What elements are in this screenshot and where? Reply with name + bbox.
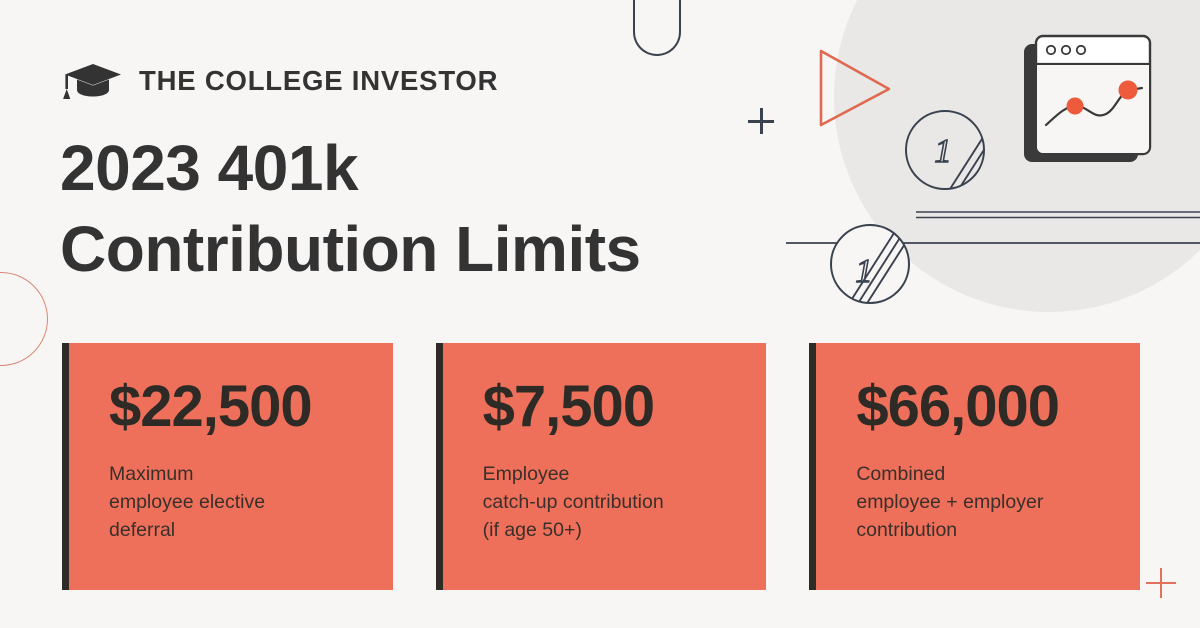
graduation-cap-icon xyxy=(62,62,122,100)
stat-card-value: $66,000 xyxy=(856,377,1114,438)
play-triangle-outline-icon xyxy=(818,48,892,128)
stat-card: $66,000 Combined employee + employer con… xyxy=(809,343,1140,590)
stat-card-value: $22,500 xyxy=(109,377,367,438)
headline-line-1: 2023 401k xyxy=(60,128,740,209)
headline-line-2: Contribution Limits xyxy=(60,209,740,290)
stat-card-group: $22,500 Maximum employee elective deferr… xyxy=(62,343,1140,590)
stat-card-label-line-1: Maximum xyxy=(109,460,367,488)
stat-card: $7,500 Employee catch-up contribution (i… xyxy=(436,343,767,590)
stat-card-label-line-3: (if age 50+) xyxy=(483,516,741,544)
stat-card-value: $7,500 xyxy=(483,377,741,438)
infographic-canvas: 1 1 xyxy=(0,0,1200,628)
rounded-pill-outline-icon xyxy=(633,0,681,56)
window-dot-1 xyxy=(1047,46,1055,54)
background-circle-grey xyxy=(834,0,1200,312)
coin-bottom-label: 1 xyxy=(856,253,873,290)
chart-point-2 xyxy=(1119,81,1138,100)
stat-card-label-line-2: employee elective xyxy=(109,488,367,516)
circle-outline-orange-icon xyxy=(0,272,48,366)
stat-card: $22,500 Maximum employee elective deferr… xyxy=(62,343,393,590)
brand-wordmark: THE COLLEGE INVESTOR xyxy=(139,65,498,97)
stat-card-label: Combined employee + employer contributio… xyxy=(856,460,1114,545)
coin-top-label: 1 xyxy=(935,133,952,170)
stat-card-label-line-1: Employee xyxy=(483,460,741,488)
horizontal-double-line xyxy=(916,210,1200,222)
plus-mark-dark-icon xyxy=(748,108,774,134)
stat-card-label-line-2: catch-up contribution xyxy=(483,488,741,516)
brand-logo[interactable]: THE COLLEGE INVESTOR xyxy=(62,62,498,100)
plus-mark-orange-icon xyxy=(1146,568,1176,598)
window-dot-3 xyxy=(1077,46,1085,54)
stat-card-label: Employee catch-up contribution (if age 5… xyxy=(483,460,741,545)
horizontal-single-line xyxy=(786,240,1200,246)
page-title: 2023 401k Contribution Limits xyxy=(60,128,740,289)
stat-card-label-line-2: employee + employer xyxy=(856,488,1114,516)
window-dot-2 xyxy=(1062,46,1070,54)
chart-point-1 xyxy=(1067,98,1084,115)
stat-card-label-line-3: contribution xyxy=(856,516,1114,544)
coin-icon-bottom: 1 xyxy=(828,222,912,306)
stat-card-label-line-3: deferral xyxy=(109,516,367,544)
stat-card-label-line-1: Combined xyxy=(856,460,1114,488)
stat-card-label: Maximum employee elective deferral xyxy=(109,460,367,545)
coin-icon-top: 1 xyxy=(903,108,987,192)
browser-window-chart-icon xyxy=(1018,30,1168,180)
